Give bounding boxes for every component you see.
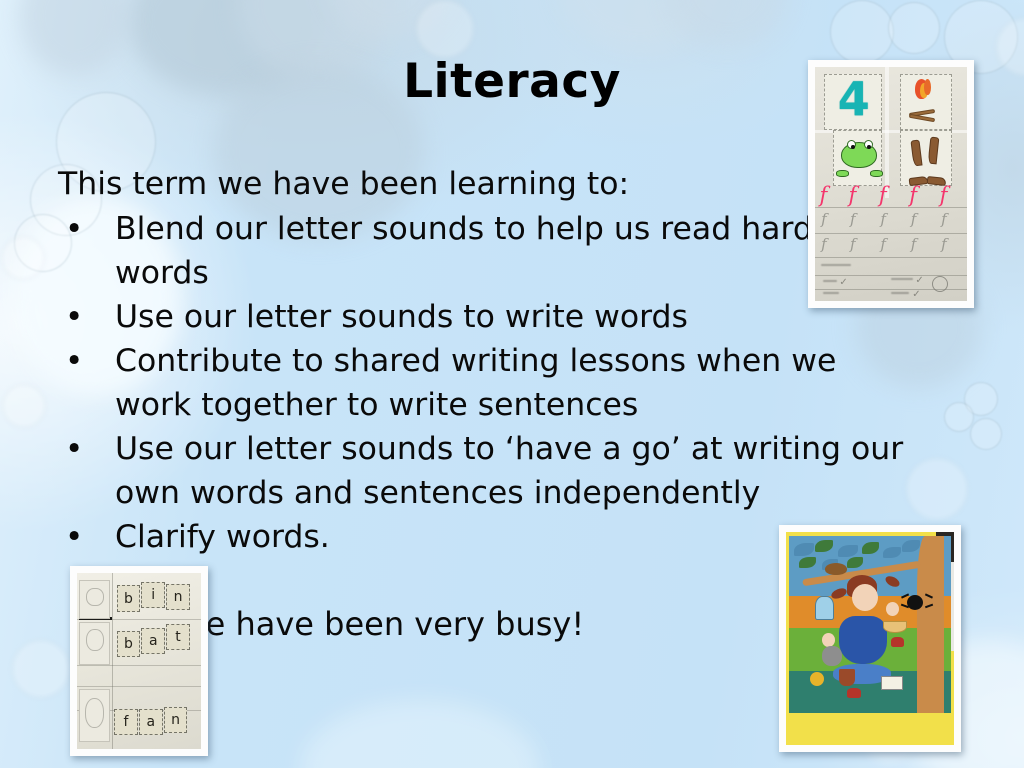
- tiles-picture: [79, 622, 110, 664]
- letter-tile: t: [166, 624, 190, 650]
- photo-worksheet: 4: [808, 60, 974, 308]
- photo-display-board: [779, 525, 961, 752]
- worksheet-paper: 4: [815, 67, 967, 301]
- letter-tile: n: [164, 707, 188, 733]
- tiles-picture: [79, 580, 110, 619]
- worksheet-letter: f: [848, 185, 856, 206]
- background-bubble: [1, 236, 45, 280]
- shoe-icon: [891, 637, 904, 647]
- display-table-surface: [786, 532, 954, 745]
- letter-tile: f: [114, 709, 138, 735]
- photo-worksheet-image: 4: [815, 67, 967, 301]
- background-bubble: [888, 2, 940, 54]
- list-item-label: Use our letter sounds to write words: [115, 299, 688, 335]
- cat-icon: [822, 646, 842, 666]
- list-item-label: Use our letter sounds to ‘have a go’ at …: [115, 431, 903, 511]
- slide-canvas: Literacy This term we have been learning…: [0, 0, 1024, 768]
- book-icon: [881, 676, 903, 690]
- list-item: • Blend our letter sounds to help us rea…: [58, 207, 918, 295]
- worksheet-number: 4: [838, 76, 870, 122]
- bullet-icon: •: [65, 207, 83, 251]
- background-bubble: [970, 418, 1002, 450]
- photo-letter-tiles: b i n b a t f a n: [70, 566, 208, 756]
- photo-letter-tiles-image: b i n b a t f a n: [77, 573, 201, 749]
- worksheet-letter: f: [879, 185, 887, 206]
- worksheet-letter: f: [820, 185, 828, 206]
- list-item: • Use our letter sounds to write words: [58, 295, 918, 339]
- intro-line: This term we have been learning to:: [58, 162, 918, 206]
- bullet-icon: •: [65, 427, 83, 471]
- bird-cage-icon: [815, 596, 834, 620]
- felt-display-board: [789, 536, 950, 713]
- letter-tile: b: [117, 585, 141, 611]
- list-item-label: Contribute to shared writing lessons whe…: [115, 343, 836, 423]
- photo-display-board-image: [786, 532, 954, 745]
- tiles-paper: b i n b a t f a n: [77, 573, 201, 749]
- letter-tile: a: [141, 628, 165, 654]
- list-item: • Contribute to shared writing lessons w…: [58, 339, 918, 427]
- shoe-icon: [847, 688, 861, 698]
- worksheet-letter: f: [909, 185, 917, 206]
- letter-tile: a: [139, 709, 163, 735]
- learning-objectives-list: • Blend our letter sounds to help us rea…: [58, 207, 918, 559]
- background-bubble: [12, 640, 70, 698]
- bullet-icon: •: [65, 295, 83, 339]
- worksheet-letter: f: [940, 185, 948, 206]
- background-bubble: [944, 402, 974, 432]
- letter-tile: n: [166, 584, 190, 610]
- list-item-label: Clarify words.: [115, 519, 330, 555]
- tiles-picture: [79, 689, 110, 742]
- bowl-icon: [883, 621, 907, 633]
- background-bubble: [2, 384, 46, 428]
- birds-nest-icon: [825, 563, 847, 575]
- list-item-label: Blend our letter sounds to help us read …: [115, 211, 845, 291]
- letter-tile: i: [141, 582, 165, 608]
- bullet-icon: •: [65, 515, 83, 559]
- list-item: • Use our letter sounds to ‘have a go’ a…: [58, 427, 918, 515]
- pot-icon: [839, 669, 855, 686]
- letter-tile: b: [117, 631, 141, 657]
- background-bubble: [416, 0, 474, 58]
- bullet-icon: •: [65, 339, 83, 383]
- body-content: This term we have been learning to: • Bl…: [58, 162, 918, 559]
